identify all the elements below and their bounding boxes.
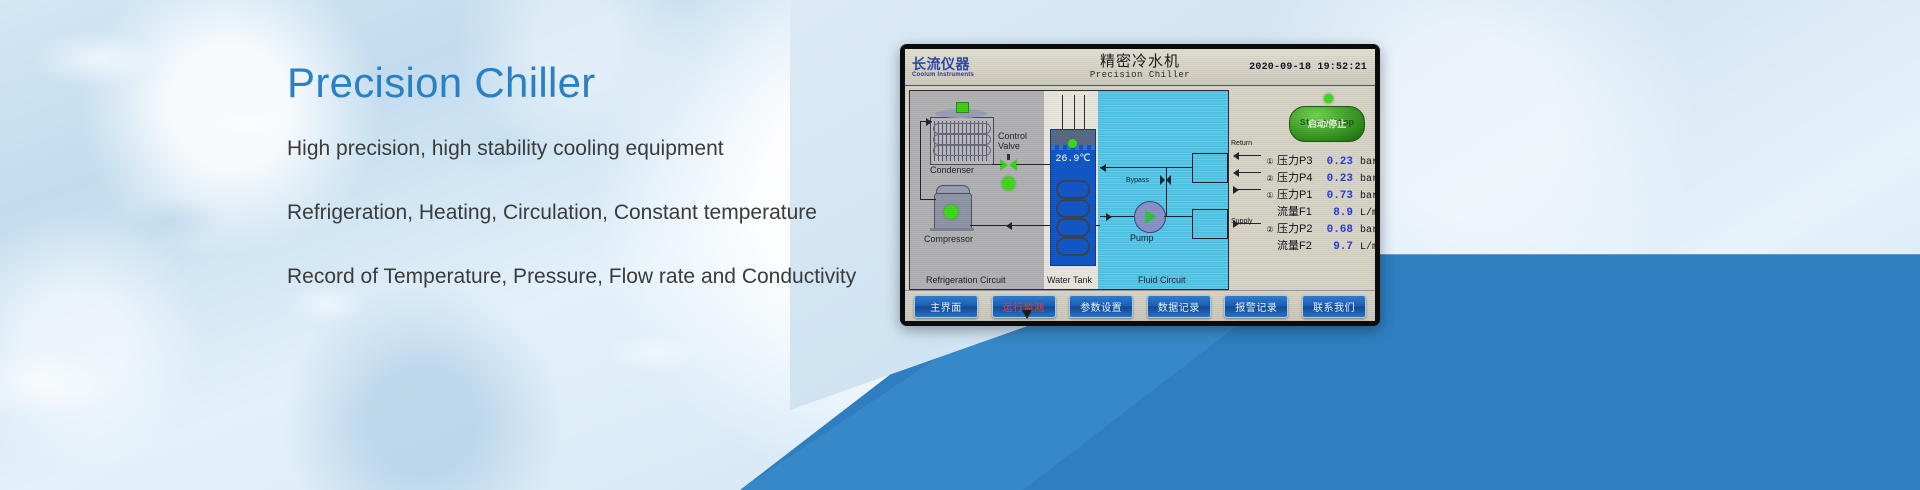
power-status-led [1324, 94, 1333, 103]
control-valve-label-line1: Control [998, 131, 1027, 141]
meter-value: 0.23 [1319, 173, 1353, 185]
refrigeration-zone-label: Refrigeration Circuit [926, 275, 1006, 285]
condenser-coil [933, 134, 991, 145]
nav-button-4[interactable]: 数据记录 [1147, 295, 1211, 318]
water-tank-icon: 26.9℃ [1050, 129, 1096, 266]
nav-button-6[interactable]: 联系我们 [1302, 295, 1366, 318]
coil-loop [1056, 199, 1090, 218]
pipe-segment [920, 121, 921, 199]
meter-value: 0.68 [1319, 224, 1353, 236]
tank-level-led [1068, 139, 1077, 148]
flow-arrow-icon [926, 118, 932, 126]
coil-loop [1056, 237, 1090, 256]
flow-arrow-icon [1233, 220, 1239, 228]
meter-label: 压力P3 [1277, 152, 1319, 168]
compressor-label: Compressor [924, 234, 973, 244]
tank-evaporator-coil [1056, 180, 1090, 254]
pipe-segment [1164, 216, 1192, 217]
meter-label: 流量F1 [1277, 203, 1319, 219]
control-valve-icon [1000, 159, 1017, 171]
meter-unit: L/min [1353, 242, 1375, 253]
start-stop-button[interactable]: Start/Stop 启动/停止 [1289, 106, 1365, 142]
meter-unit: L/min [1353, 208, 1375, 219]
valve-left-triangle [1000, 159, 1008, 171]
meter-index: ① [1263, 157, 1277, 167]
water-tank-zone-label: Water Tank [1047, 275, 1092, 285]
page-title: Precision Chiller [287, 62, 907, 104]
screen-title: 精密冷水机 Precision Chiller [905, 54, 1375, 80]
flow-arrow-icon [1100, 164, 1106, 172]
meter-unit: bar [1353, 157, 1375, 168]
supply-manifold-box [1192, 209, 1228, 239]
promo-banner: Precision Chiller High precision, high s… [0, 0, 1920, 490]
valve-right-triangle [1009, 159, 1017, 171]
return-line-label: Return [1231, 140, 1252, 147]
pipe-segment [1166, 167, 1167, 216]
control-valve-label: Control Valve [998, 131, 1027, 152]
flow-arrow-icon [1233, 152, 1239, 160]
bypass-label: Bypass [1126, 177, 1149, 184]
meter-value: 0.73 [1319, 190, 1353, 202]
nav-button-5[interactable]: 报警记录 [1224, 295, 1288, 318]
condenser-label: Condenser [930, 165, 974, 175]
meter-label: 流量F2 [1277, 237, 1319, 253]
process-diagram: Condenser Compressor Control Valve [909, 90, 1229, 290]
pipe-segment [1016, 164, 1052, 165]
valve-left-triangle [1160, 175, 1165, 185]
pipe-segment [992, 164, 1002, 165]
meter-index: ① [1263, 191, 1277, 201]
meter-value: 0.23 [1319, 156, 1353, 168]
fan-status-indicator [956, 102, 969, 113]
control-valve-status-led [1002, 177, 1015, 190]
meter-row: ②压力P20.68bar [1263, 220, 1375, 237]
meter-index: ② [1263, 225, 1277, 235]
nav-button-1[interactable]: 主界面 [914, 295, 978, 318]
flow-arrow-icon [1006, 222, 1012, 230]
screen-title-cn: 精密冷水机 [905, 54, 1375, 69]
nav-button-3[interactable]: 参数设置 [1069, 295, 1133, 318]
fluid-circuit-zone-label: Fluid Circuit [1138, 275, 1186, 285]
meter-list: ①压力P30.23bar②压力P40.23bar①压力P10.73bar流量F1… [1263, 152, 1375, 254]
meter-index: ② [1263, 174, 1277, 184]
pump-direction-arrow [1145, 210, 1157, 224]
pump-label: Pump [1130, 233, 1154, 243]
control-valve-label-line2: Valve [998, 141, 1020, 151]
condenser-coil [933, 145, 991, 156]
return-manifold-box [1192, 153, 1228, 183]
meter-unit: bar [1353, 225, 1375, 236]
coil-loop [1056, 218, 1090, 237]
meter-row: 流量F29.7L/min [1263, 237, 1375, 254]
tank-temperature-readout: 26.9℃ [1051, 153, 1095, 165]
hmi-main-area: Condenser Compressor Control Valve [905, 86, 1375, 290]
meter-value: 9.7 [1319, 241, 1353, 253]
meter-row: ②压力P40.23bar [1263, 169, 1375, 186]
mouse-cursor [1022, 310, 1032, 319]
readout-panel: Start/Stop 启动/停止 Return Supply ①压力P30.23… [1229, 90, 1371, 290]
pump-icon [1134, 201, 1166, 233]
condenser-coil [933, 123, 991, 134]
start-stop-label-cn: 启动/停止 [1308, 120, 1347, 129]
condenser-icon [930, 117, 994, 165]
pipe-segment [920, 199, 936, 200]
meter-unit: bar [1353, 191, 1375, 202]
meter-row: ①压力P10.73bar [1263, 186, 1375, 203]
fluid-circuit-zone [1098, 91, 1228, 289]
tank-inlet-pipes [1060, 95, 1086, 131]
feature-line-3: Record of Temperature, Pressure, Flow ra… [287, 266, 907, 287]
hmi-device: 长流仪器 Coolum Instruments 精密冷水机 Precision … [900, 44, 1380, 326]
meter-row: 流量F18.9L/min [1263, 203, 1375, 220]
pipe-segment [1074, 95, 1075, 129]
hmi-navigation-bar: 主界面运行监测参数设置数据记录报警记录联系我们 [905, 290, 1375, 321]
compressor-status-led [944, 205, 958, 219]
meter-value: 8.9 [1319, 207, 1353, 219]
feature-line-2: Refrigeration, Heating, Circulation, Con… [287, 202, 907, 223]
meter-row: ①压力P30.23bar [1263, 152, 1375, 169]
pipe-segment [1100, 167, 1192, 168]
coil-loop [1056, 180, 1090, 199]
flow-arrow-icon [1233, 169, 1239, 177]
meter-unit: bar [1353, 174, 1375, 185]
promo-copy: Precision Chiller High precision, high s… [287, 62, 907, 287]
pipe-segment [1062, 95, 1063, 129]
flow-arrow-icon [1233, 186, 1239, 194]
screen-title-en: Precision Chiller [905, 71, 1375, 80]
pipe-segment [1084, 95, 1085, 129]
meter-label: 压力P1 [1277, 186, 1319, 202]
meter-label: 压力P2 [1277, 220, 1319, 236]
flow-arrow-icon [1106, 213, 1112, 221]
hmi-screen: 长流仪器 Coolum Instruments 精密冷水机 Precision … [905, 49, 1375, 321]
feature-line-1: High precision, high stability cooling e… [287, 138, 907, 159]
meter-label: 压力P4 [1277, 169, 1319, 185]
compressor-base [930, 228, 974, 231]
hmi-header: 长流仪器 Coolum Instruments 精密冷水机 Precision … [905, 49, 1375, 86]
